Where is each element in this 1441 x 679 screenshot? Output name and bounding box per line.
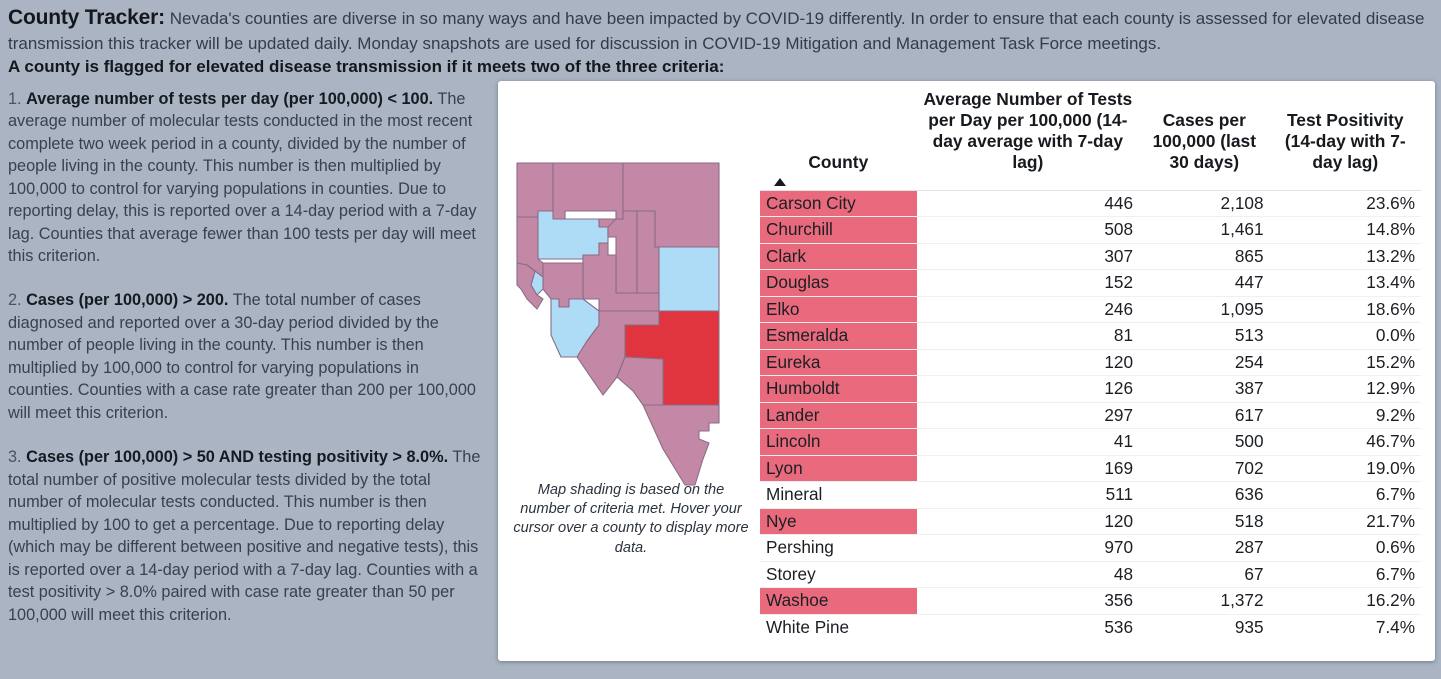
cell-tests-per-day: 152: [917, 270, 1139, 297]
table-row[interactable]: Lander2976179.2%: [760, 402, 1421, 429]
cell-tests-per-day: 81: [917, 323, 1139, 350]
cell-cases-per-100k: 617: [1139, 402, 1270, 429]
cell-cases-per-100k: 518: [1139, 508, 1270, 535]
cell-county[interactable]: Lyon: [760, 455, 917, 482]
cell-test-positivity: 23.6%: [1270, 190, 1421, 217]
table-body: Carson City4462,10823.6%Churchill5081,46…: [760, 190, 1421, 641]
cell-county[interactable]: Douglas: [760, 270, 917, 297]
cell-county[interactable]: Carson City: [760, 190, 917, 217]
criterion-1-number: 1.: [8, 90, 22, 108]
table-row[interactable]: Nye12051821.7%: [760, 508, 1421, 535]
criterion-3: 3. Cases (per 100,000) > 50 AND testing …: [8, 446, 482, 626]
cell-test-positivity: 0.0%: [1270, 323, 1421, 350]
table-row[interactable]: Elko2461,09518.6%: [760, 296, 1421, 323]
page-intro: Nevada's counties are diverse in so many…: [8, 9, 1424, 53]
cell-cases-per-100k: 287: [1139, 535, 1270, 562]
cell-tests-per-day: 970: [917, 535, 1139, 562]
map-pane: Map shading is based on the number of cr…: [498, 81, 760, 661]
cell-tests-per-day: 446: [917, 190, 1139, 217]
cell-cases-per-100k: 513: [1139, 323, 1270, 350]
cell-county[interactable]: Washoe: [760, 588, 917, 615]
county-tracker-table-body: Carson City4462,10823.6%Churchill5081,46…: [760, 190, 1421, 641]
county-shape-esmeralda: [617, 357, 663, 405]
cell-cases-per-100k: 1,372: [1139, 588, 1270, 615]
nevada-map[interactable]: [498, 89, 760, 489]
county-shape-pershing: [538, 211, 608, 259]
criterion-3-body: The total number of positive molecular t…: [8, 448, 480, 623]
cell-county[interactable]: Esmeralda: [760, 323, 917, 350]
cell-cases-per-100k: 67: [1139, 561, 1270, 588]
table-row[interactable]: Mineral5116366.7%: [760, 482, 1421, 509]
cell-cases-per-100k: 254: [1139, 349, 1270, 376]
content-area: 1. Average number of tests per day (per …: [0, 81, 1441, 673]
criteria-list: 1. Average number of tests per day (per …: [8, 81, 498, 649]
flag-rule-text: A county is flagged for elevated disease…: [8, 56, 1429, 78]
cell-tests-per-day: 511: [917, 482, 1139, 509]
criterion-3-heading: Cases (per 100,000) > 50 AND testing pos…: [26, 448, 448, 466]
tracker-card: Map shading is based on the number of cr…: [498, 81, 1435, 661]
column-header-cases-per-100k[interactable]: Cases per 100,000 (last 30 days): [1139, 89, 1270, 177]
table-row[interactable]: Esmeralda815130.0%: [760, 323, 1421, 350]
page-header: County Tracker: Nevada's counties are di…: [0, 0, 1441, 81]
sort-ascending-icon[interactable]: [774, 178, 786, 186]
cell-test-positivity: 13.4%: [1270, 270, 1421, 297]
cell-cases-per-100k: 702: [1139, 455, 1270, 482]
table-row[interactable]: Douglas15244713.4%: [760, 270, 1421, 297]
criterion-3-number: 3.: [8, 448, 22, 466]
cell-county[interactable]: Storey: [760, 561, 917, 588]
table-row[interactable]: Lyon16970219.0%: [760, 455, 1421, 482]
criterion-2-body: The total number of cases diagnosed and …: [8, 291, 476, 421]
cell-county[interactable]: Lincoln: [760, 429, 917, 456]
table-row[interactable]: Washoe3561,37216.2%: [760, 588, 1421, 615]
column-header-tests-per-day[interactable]: Average Number of Tests per Day per 100,…: [917, 89, 1139, 177]
table-row[interactable]: Pershing9702870.6%: [760, 535, 1421, 562]
cell-tests-per-day: 48: [917, 561, 1139, 588]
cell-county[interactable]: Nye: [760, 508, 917, 535]
table-row[interactable]: Churchill5081,46114.8%: [760, 217, 1421, 244]
county-shape-humboldt: [517, 163, 553, 217]
map-caption: Map shading is based on the number of cr…: [512, 481, 750, 559]
cell-tests-per-day: 307: [917, 243, 1139, 270]
cell-cases-per-100k: 387: [1139, 376, 1270, 403]
table-row[interactable]: Carson City4462,10823.6%: [760, 190, 1421, 217]
cell-cases-per-100k: 447: [1139, 270, 1270, 297]
table-row[interactable]: Storey48676.7%: [760, 561, 1421, 588]
cell-test-positivity: 9.2%: [1270, 402, 1421, 429]
cell-county[interactable]: Pershing: [760, 535, 917, 562]
table-pane: County Average Number of Tests per Day p…: [760, 81, 1435, 661]
cell-tests-per-day: 41: [917, 429, 1139, 456]
cell-cases-per-100k: 935: [1139, 614, 1270, 641]
criterion-1: 1. Average number of tests per day (per …: [8, 88, 482, 268]
cell-cases-per-100k: 1,461: [1139, 217, 1270, 244]
county-shape-white-pine: [659, 247, 719, 311]
cell-cases-per-100k: 636: [1139, 482, 1270, 509]
cell-test-positivity: 6.7%: [1270, 561, 1421, 588]
cell-tests-per-day: 120: [917, 349, 1139, 376]
cell-county[interactable]: White Pine: [760, 614, 917, 641]
cell-tests-per-day: 356: [917, 588, 1139, 615]
cell-test-positivity: 21.7%: [1270, 508, 1421, 535]
cell-county[interactable]: Humboldt: [760, 376, 917, 403]
column-header-test-positivity[interactable]: Test Positivity (14-day with 7-day lag): [1270, 89, 1421, 177]
cell-county[interactable]: Mineral: [760, 482, 917, 509]
cell-test-positivity: 6.7%: [1270, 482, 1421, 509]
cell-county[interactable]: Clark: [760, 243, 917, 270]
cell-test-positivity: 7.4%: [1270, 614, 1421, 641]
cell-county[interactable]: Churchill: [760, 217, 917, 244]
cell-tests-per-day: 126: [917, 376, 1139, 403]
criterion-1-body: The average number of molecular tests co…: [8, 90, 477, 265]
criterion-1-heading: Average number of tests per day (per 100…: [26, 90, 433, 108]
cell-test-positivity: 46.7%: [1270, 429, 1421, 456]
cell-county[interactable]: Eureka: [760, 349, 917, 376]
cell-tests-per-day: 536: [917, 614, 1139, 641]
criterion-2-heading: Cases (per 100,000) > 200.: [26, 291, 228, 309]
cell-test-positivity: 12.9%: [1270, 376, 1421, 403]
table-header-row: County Average Number of Tests per Day p…: [760, 89, 1421, 177]
table-row[interactable]: Humboldt12638712.9%: [760, 376, 1421, 403]
cell-test-positivity: 15.2%: [1270, 349, 1421, 376]
county-tracker-table: County Average Number of Tests per Day p…: [760, 89, 1421, 177]
sort-indicator-bar: [760, 177, 1421, 190]
page-title: County Tracker:: [8, 6, 165, 29]
cell-tests-per-day: 246: [917, 296, 1139, 323]
table-header: County Average Number of Tests per Day p…: [760, 89, 1421, 177]
cell-county[interactable]: Elko: [760, 296, 917, 323]
table-row[interactable]: White Pine5369357.4%: [760, 614, 1421, 641]
cell-cases-per-100k: 500: [1139, 429, 1270, 456]
cell-test-positivity: 0.6%: [1270, 535, 1421, 562]
cell-cases-per-100k: 865: [1139, 243, 1270, 270]
criterion-2-number: 2.: [8, 291, 22, 309]
table-row[interactable]: Lincoln4150046.7%: [760, 429, 1421, 456]
cell-test-positivity: 18.6%: [1270, 296, 1421, 323]
cell-tests-per-day: 508: [917, 217, 1139, 244]
table-row[interactable]: Clark30786513.2%: [760, 243, 1421, 270]
cell-county[interactable]: Lander: [760, 402, 917, 429]
cell-cases-per-100k: 1,095: [1139, 296, 1270, 323]
county-shape-clark: [643, 405, 719, 485]
column-header-county[interactable]: County: [760, 89, 917, 177]
cell-test-positivity: 19.0%: [1270, 455, 1421, 482]
cell-tests-per-day: 297: [917, 402, 1139, 429]
cell-test-positivity: 13.2%: [1270, 243, 1421, 270]
cell-test-positivity: 14.8%: [1270, 217, 1421, 244]
cell-tests-per-day: 120: [917, 508, 1139, 535]
nevada-map-icon[interactable]: [513, 159, 745, 489]
table-row[interactable]: Eureka12025415.2%: [760, 349, 1421, 376]
cell-tests-per-day: 169: [917, 455, 1139, 482]
cell-test-positivity: 16.2%: [1270, 588, 1421, 615]
cell-cases-per-100k: 2,108: [1139, 190, 1270, 217]
criterion-2: 2. Cases (per 100,000) > 200. The total …: [8, 289, 482, 424]
